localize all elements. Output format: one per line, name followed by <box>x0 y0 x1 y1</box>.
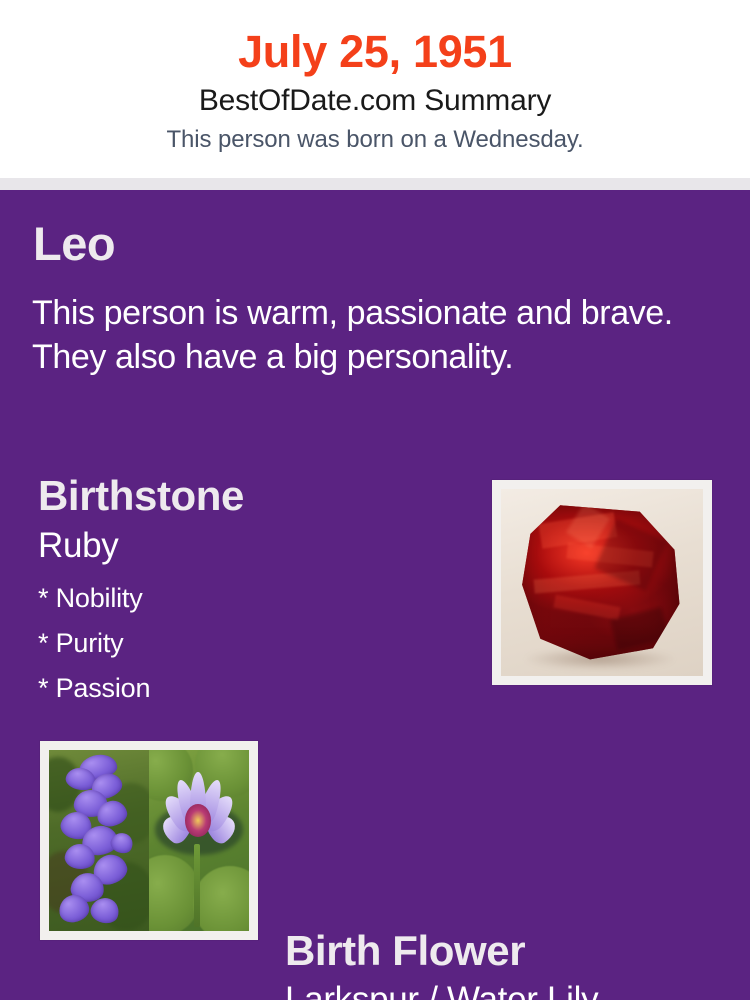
birthstone-trait-list: * Nobility * Purity * Passion <box>38 576 458 711</box>
birthstone-photo-frame <box>492 480 712 685</box>
list-item: * Nobility <box>38 576 458 621</box>
page-title-date: July 25, 1951 <box>0 26 750 77</box>
site-summary-subtitle: BestOfDate.com Summary <box>0 83 750 119</box>
birthflower-value: Larkspur / Water Lily <box>285 982 725 1000</box>
born-day-line: This person was born on a Wednesday. <box>0 126 750 155</box>
lily-pad <box>193 866 249 931</box>
birthstone-photo <box>501 489 703 676</box>
lily-stem <box>194 844 200 927</box>
birthstone-heading: Birthstone <box>38 475 458 517</box>
list-item: * Purity <box>38 621 458 666</box>
header-divider <box>0 178 750 190</box>
lily-center <box>185 804 211 837</box>
zodiac-sign-heading: Leo <box>33 220 115 267</box>
ruby-crystal <box>517 502 683 661</box>
birthstone-value: Ruby <box>38 528 458 563</box>
birthstone-block: Birthstone Ruby * Nobility * Purity * Pa… <box>38 475 458 711</box>
larkspur-icon <box>49 750 149 931</box>
birthflower-heading: Birth Flower <box>285 930 725 972</box>
summary-page: July 25, 1951 BestOfDate.com Summary Thi… <box>0 0 750 1000</box>
birthflower-photo <box>49 750 249 931</box>
flower-scene <box>49 750 249 931</box>
ruby-gemstone-icon <box>501 489 703 676</box>
ruby-facet <box>553 594 620 619</box>
birthflower-photo-frame <box>40 741 258 940</box>
zodiac-description: This person is warm, passionate and brav… <box>32 291 692 379</box>
page-header: July 25, 1951 BestOfDate.com Summary Thi… <box>0 0 750 178</box>
list-item: * Passion <box>38 666 458 711</box>
water-lily-icon <box>149 750 249 931</box>
birthflower-block: Birth Flower Larkspur / Water Lily * Pos… <box>285 930 725 1000</box>
